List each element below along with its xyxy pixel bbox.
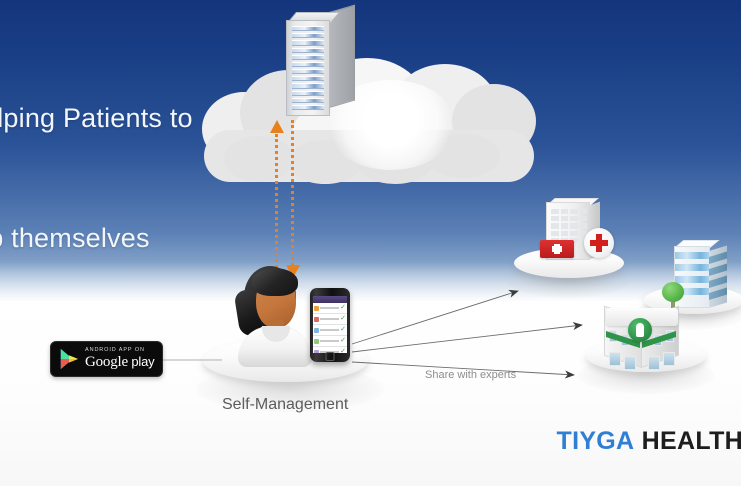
cloud-lobe	[356, 138, 434, 184]
smartphone-screen: ✓ ✓ ✓ ✓ ✓	[313, 296, 347, 353]
hospital-cross-sign	[540, 240, 574, 258]
share-with-experts-label: Share with experts	[425, 369, 516, 381]
app-list-row: ✓	[313, 336, 347, 347]
app-list-row: ✓	[313, 303, 347, 314]
google-play-badge[interactable]: ANDROID APP ON Google play	[50, 341, 163, 377]
hospital-windows	[551, 209, 587, 243]
upload-dotted-line	[275, 134, 278, 280]
app-list-row: ✓	[313, 325, 347, 336]
cloud-sync-upload-arrow	[270, 120, 284, 280]
download-dotted-line	[291, 120, 294, 266]
slide-canvas: elping Patients to lp themselves	[0, 0, 741, 486]
app-list-row: ✓	[313, 314, 347, 325]
server-blade-slots	[292, 26, 324, 110]
logo-suffix-text: HEALTH	[642, 427, 741, 455]
office-window-band	[675, 264, 709, 271]
google-play-superline: ANDROID APP ON	[85, 348, 154, 354]
google-play-icon	[59, 348, 79, 370]
pharmacy-storefront-window	[624, 356, 636, 370]
pharmacy-storefront-window	[648, 356, 660, 370]
home-button-icon[interactable]	[326, 352, 335, 361]
office-window-band	[675, 252, 709, 259]
pharmacy-node	[600, 296, 686, 372]
smartphone-device[interactable]: ✓ ✓ ✓ ✓ ✓	[310, 288, 350, 362]
hospital-node	[528, 196, 620, 266]
logo-brand-text: TIYGA	[557, 427, 635, 455]
server-rack-icon	[282, 8, 368, 120]
cloud-sync-download-arrow	[286, 120, 300, 280]
pharmacy-sign-icon	[628, 318, 652, 342]
brand-logo: TIYGA HEALTH	[557, 427, 741, 456]
red-cross-icon	[584, 228, 614, 258]
pharmacy-storefront-window	[663, 352, 675, 366]
pharmacy-storefront-window	[609, 352, 621, 366]
avatar-hair-front	[252, 268, 298, 296]
cloud-graphic	[196, 58, 546, 186]
google-play-wordmark: ANDROID APP ON Google play	[85, 348, 154, 371]
arrow-up-icon	[270, 120, 284, 133]
cloud-lobe	[426, 134, 500, 178]
self-management-label: Self-Management	[222, 396, 348, 414]
patient-avatar	[236, 262, 314, 362]
title-line-2: lp themselves	[0, 218, 312, 258]
app-header-bar	[313, 296, 347, 303]
google-play-title: Google play	[85, 355, 154, 370]
